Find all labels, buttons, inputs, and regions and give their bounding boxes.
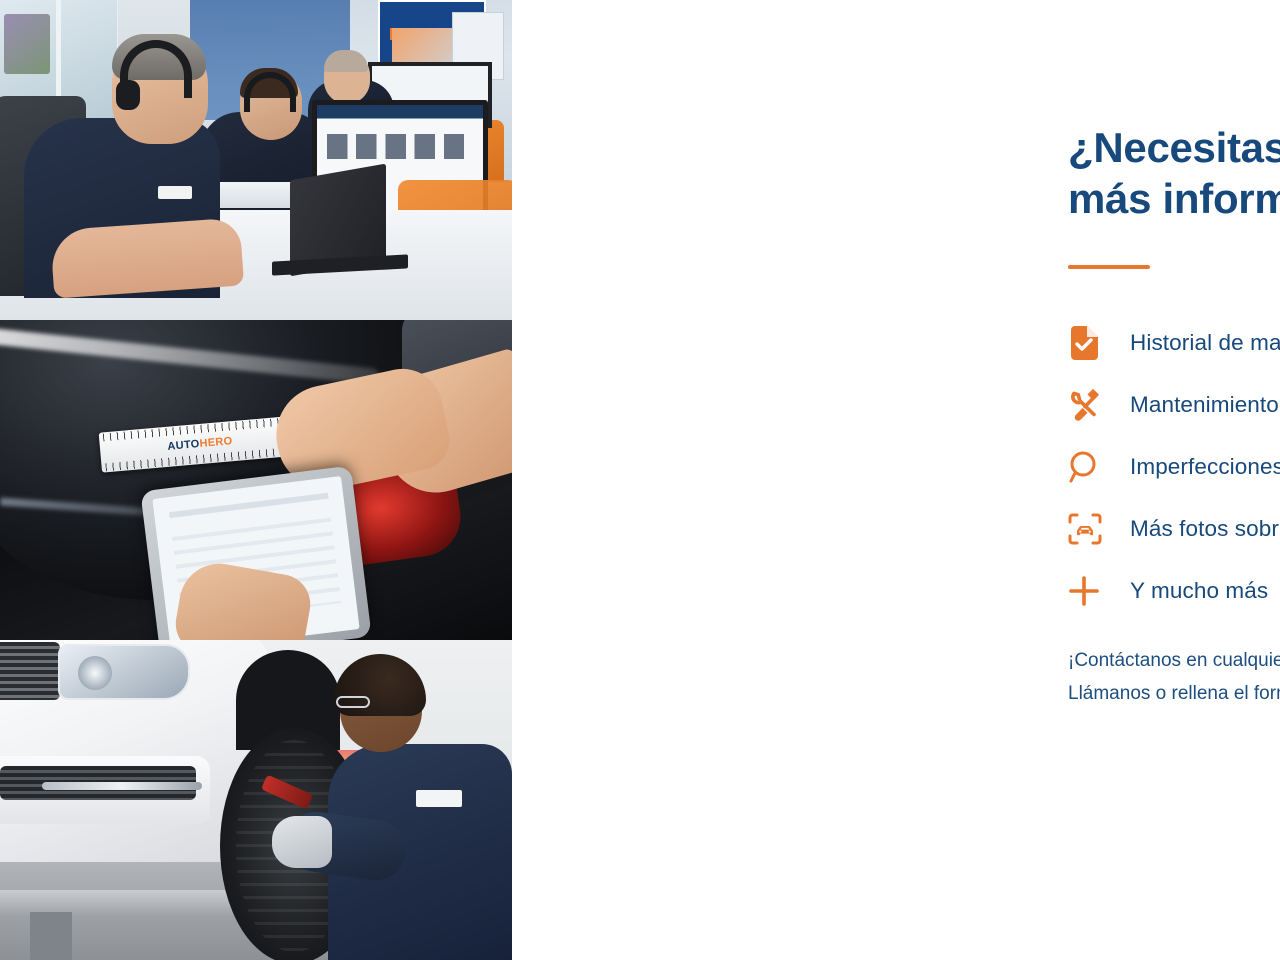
page-title-line-1: ¿Necesitas — [1068, 122, 1280, 173]
document-check-icon — [1068, 326, 1114, 360]
page-title: ¿Necesitas más información? — [1068, 122, 1280, 224]
workshop-tire-photo — [0, 640, 512, 960]
feature-list: Historial de mantenimientos — [1068, 312, 1280, 622]
autohero-logo-hero: HERO — [199, 435, 233, 450]
agent-three-hair — [324, 50, 368, 72]
mechanic-glasses — [336, 696, 370, 708]
magnifier-icon — [1068, 450, 1114, 484]
promo-page: AUTOHERO — [0, 0, 1280, 960]
feature-item-maintenance-history: Historial de mantenimientos — [1068, 312, 1280, 374]
car-lift-post — [30, 912, 72, 960]
feature-label: Mantenimiento realizado — [1130, 392, 1280, 418]
feature-item-maintenance-done: Mantenimiento realizado — [1068, 374, 1280, 436]
agent-one-badge — [158, 186, 192, 199]
contact-text: ¡Contáctanos en cualquier momento para m… — [1068, 645, 1280, 710]
agent-one-arm — [50, 217, 244, 298]
mechanic-badge — [416, 790, 462, 807]
content-panel: ¿Necesitas más información? Historial de… — [512, 0, 1280, 960]
feature-item-much-more: Y mucho más — [1068, 560, 1280, 622]
feature-item-imperfections: Imperfecciones — [1068, 436, 1280, 498]
autohero-logo-on-ruler: AUTOHERO — [167, 435, 233, 453]
page-title-line-2: más información? — [1068, 173, 1280, 224]
feature-label: Historial de mantenimientos — [1130, 330, 1280, 356]
call-center-photo — [0, 0, 512, 320]
title-divider — [1068, 265, 1150, 269]
feature-label: Y mucho más — [1130, 578, 1268, 604]
photo-column: AUTOHERO — [0, 0, 512, 960]
feature-label: Más fotos sobre el coche — [1130, 516, 1280, 542]
window-foliage — [4, 14, 50, 74]
plus-icon — [1068, 575, 1114, 607]
contact-line-1: ¡Contáctanos en cualquier momento para m… — [1068, 645, 1280, 678]
feature-label: Imperfecciones — [1130, 454, 1280, 480]
autohero-logo-auto: AUTO — [167, 438, 200, 453]
car-grille — [0, 642, 60, 700]
feature-item-more-photos: Más fotos sobre el coche — [1068, 498, 1280, 560]
contact-line-2: Llámanos o rellena el formulario de cont… — [1068, 678, 1280, 711]
car-headlight — [58, 644, 190, 700]
mechanic-glove — [272, 816, 332, 868]
agent-one-earcup — [116, 80, 140, 110]
chrome-trim — [42, 782, 202, 790]
wrench-screwdriver-icon — [1068, 388, 1114, 422]
car-focus-icon — [1068, 513, 1114, 545]
car-inspection-photo: AUTOHERO — [0, 320, 512, 640]
